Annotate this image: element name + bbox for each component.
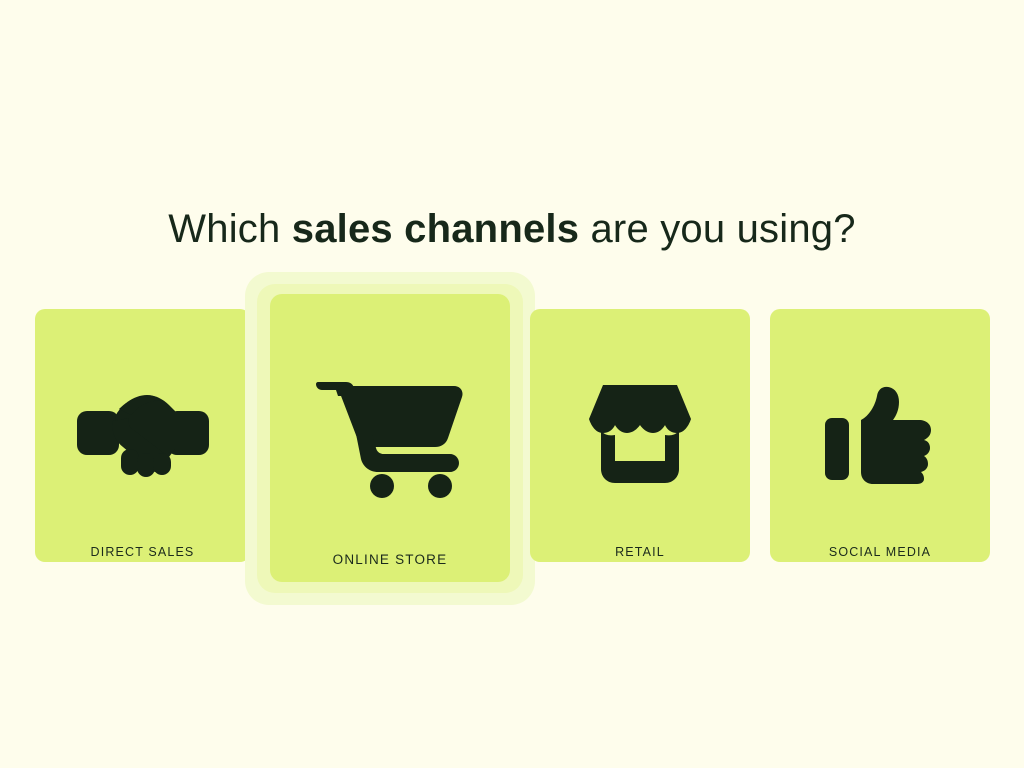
storefront-icon	[530, 385, 750, 485]
thumbs-up-icon	[770, 385, 990, 485]
channel-card-retail[interactable]: RETAIL	[530, 309, 750, 562]
channel-card-label: DIRECT SALES	[35, 545, 250, 559]
slide-canvas: Which sales channels are you using?	[0, 0, 1024, 768]
channel-card-label: RETAIL	[530, 545, 750, 559]
channel-card-online-store[interactable]: ONLINE STORE	[270, 294, 510, 582]
channel-card-label: ONLINE STORE	[270, 552, 510, 567]
sales-channel-options: DIRECT SALES ONLINE STORE	[0, 0, 1024, 768]
channel-card-label: SOCIAL MEDIA	[770, 545, 990, 559]
channel-card-social-media[interactable]: SOCIAL MEDIA	[770, 309, 990, 562]
handshake-icon	[35, 385, 250, 485]
channel-card-direct-sales[interactable]: DIRECT SALES	[35, 309, 250, 562]
shopping-cart-icon	[270, 376, 510, 498]
